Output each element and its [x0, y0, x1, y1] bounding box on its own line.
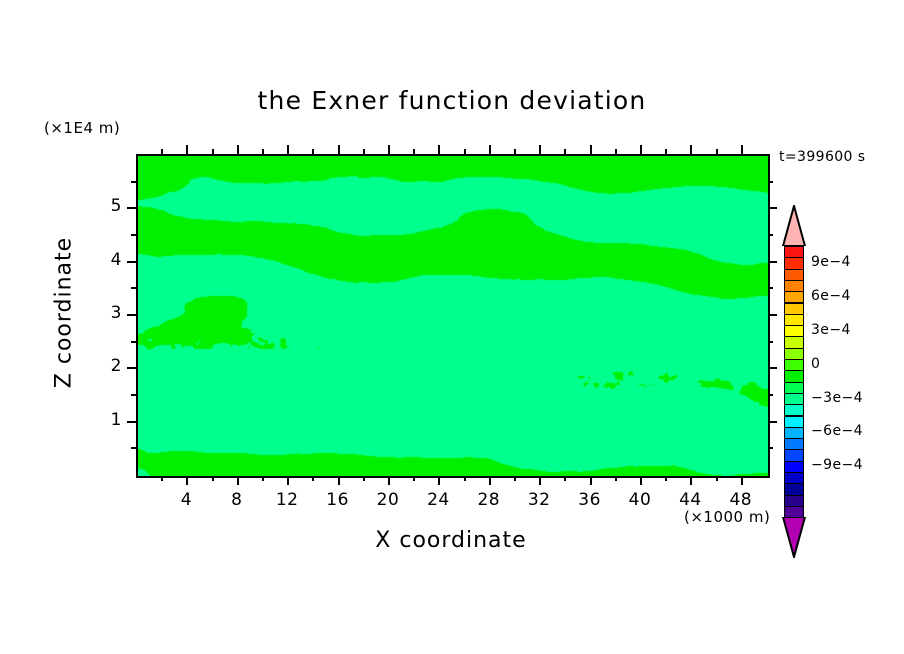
- colorbar-tick-label: 3e−4: [811, 322, 851, 338]
- x-tick-label: 28: [469, 490, 509, 510]
- y-tick-label: 4: [88, 250, 122, 270]
- y-tick-label: 3: [88, 303, 122, 323]
- x-tick-label: 16: [318, 490, 358, 510]
- y-tick-label: 1: [88, 410, 122, 430]
- colorbar-tick-label: −6e−4: [811, 423, 863, 439]
- x-axis-tick: [539, 476, 541, 485]
- x-axis-tick: [514, 149, 516, 154]
- y-axis-unit-label: (×1E4 m): [44, 119, 120, 137]
- x-tick-label: 24: [418, 490, 458, 510]
- page-title: the Exner function deviation: [0, 86, 904, 115]
- x-axis-tick: [413, 476, 415, 481]
- x-axis-title: X coordinate: [136, 528, 766, 553]
- x-axis-tick: [665, 149, 667, 154]
- x-axis-tick: [212, 149, 214, 154]
- y-axis-tick: [127, 207, 136, 209]
- x-axis-tick: [388, 145, 390, 154]
- x-axis-tick: [564, 149, 566, 154]
- y-axis-tick: [768, 287, 773, 289]
- x-axis-tick: [413, 149, 415, 154]
- x-axis-tick: [489, 145, 491, 154]
- x-axis-tick: [716, 149, 718, 154]
- x-axis-tick: [212, 476, 214, 481]
- x-tick-label: 8: [217, 490, 257, 510]
- y-axis-tick: [768, 447, 773, 449]
- x-axis-tick: [338, 476, 340, 485]
- colorbar-tick-label: 9e−4: [811, 254, 851, 270]
- y-axis-tick: [131, 394, 136, 396]
- x-axis-tick: [237, 476, 239, 485]
- x-axis-tick: [489, 476, 491, 485]
- x-tick-label: 44: [670, 490, 710, 510]
- y-axis-tick: [131, 341, 136, 343]
- y-axis-tick: [127, 421, 136, 423]
- x-axis-tick: [161, 149, 163, 154]
- x-axis-tick: [741, 145, 743, 154]
- x-axis-tick: [590, 476, 592, 485]
- contour-plot-area: [136, 154, 770, 478]
- y-axis-tick: [131, 287, 136, 289]
- y-axis-tick: [768, 394, 773, 396]
- y-axis-tick: [131, 447, 136, 449]
- x-tick-label: 48: [721, 490, 761, 510]
- time-annotation: t=399600 s: [779, 149, 865, 165]
- colorbar-tick-label: 6e−4: [811, 288, 851, 304]
- y-tick-label: 5: [88, 196, 122, 216]
- x-axis-tick: [312, 476, 314, 481]
- colorbar-tick-label: −3e−4: [811, 390, 863, 406]
- y-axis-title: Z coordinate: [52, 203, 77, 423]
- y-axis-tick: [768, 207, 777, 209]
- colorbar-tick-label: −9e−4: [811, 457, 863, 473]
- y-axis-tick: [768, 421, 777, 423]
- colorbar-tick-label: 0: [811, 356, 820, 372]
- y-axis-tick: [131, 234, 136, 236]
- contour-field: [138, 156, 768, 476]
- y-axis-tick: [131, 181, 136, 183]
- x-tick-label: 40: [620, 490, 660, 510]
- colorbar-under-arrow: [781, 517, 807, 558]
- y-axis-tick: [768, 261, 777, 263]
- y-axis-tick: [127, 367, 136, 369]
- x-axis-tick: [716, 476, 718, 481]
- x-axis-tick: [590, 145, 592, 154]
- y-axis-tick: [768, 341, 773, 343]
- x-axis-tick: [237, 145, 239, 154]
- y-axis-tick: [127, 314, 136, 316]
- x-axis-tick: [690, 476, 692, 485]
- x-axis-tick: [464, 476, 466, 481]
- y-axis-tick: [768, 367, 777, 369]
- x-axis-tick: [363, 476, 365, 481]
- x-axis-tick: [615, 476, 617, 481]
- x-axis-tick: [741, 476, 743, 485]
- x-axis-tick: [287, 476, 289, 485]
- x-axis-tick: [564, 476, 566, 481]
- x-axis-tick: [615, 149, 617, 154]
- x-axis-tick: [464, 149, 466, 154]
- x-axis-tick: [287, 145, 289, 154]
- x-axis-tick: [539, 145, 541, 154]
- x-tick-label: 20: [368, 490, 408, 510]
- x-axis-tick: [161, 476, 163, 481]
- x-tick-label: 36: [570, 490, 610, 510]
- x-tick-label: 12: [267, 490, 307, 510]
- x-tick-label: 32: [519, 490, 559, 510]
- x-axis-tick: [438, 476, 440, 485]
- x-axis-tick: [514, 476, 516, 481]
- y-axis-tick: [768, 234, 773, 236]
- x-axis-tick: [438, 145, 440, 154]
- y-axis-tick: [127, 261, 136, 263]
- x-axis-tick: [186, 145, 188, 154]
- colorbar-over-arrow: [781, 205, 807, 246]
- x-axis-tick: [262, 476, 264, 481]
- x-axis-tick: [640, 145, 642, 154]
- y-axis-tick: [768, 181, 773, 183]
- x-axis-unit-label: (×1000 m): [684, 508, 770, 526]
- x-axis-tick: [388, 476, 390, 485]
- x-axis-tick: [312, 149, 314, 154]
- x-tick-label: 4: [166, 490, 206, 510]
- x-axis-tick: [640, 476, 642, 485]
- x-axis-tick: [690, 145, 692, 154]
- x-axis-tick: [186, 476, 188, 485]
- x-axis-tick: [338, 145, 340, 154]
- x-axis-tick: [262, 149, 264, 154]
- y-tick-label: 2: [88, 356, 122, 376]
- y-axis-tick: [768, 314, 777, 316]
- x-axis-tick: [363, 149, 365, 154]
- x-axis-tick: [665, 476, 667, 481]
